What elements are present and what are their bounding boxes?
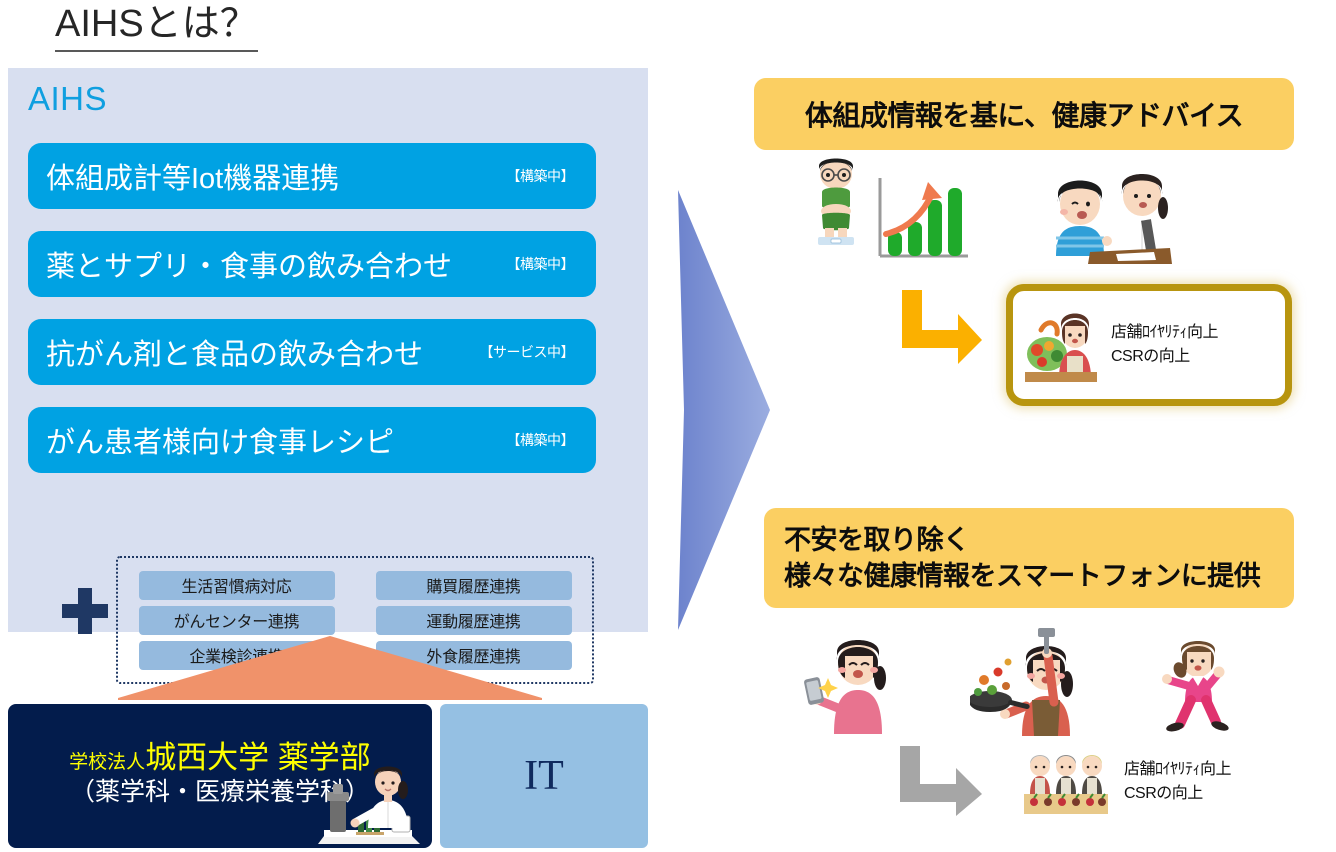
callout-line-1: 不安を取り除く xyxy=(784,522,1294,558)
callout-line-2: 様々な健康情報をスマートフォンに提供 xyxy=(784,558,1294,594)
tag-cell: 購買履歴連携 xyxy=(355,568,592,603)
body-scale-illustration xyxy=(796,158,876,248)
outcome-line-2: CSRの向上 xyxy=(1111,345,1218,369)
feature-bar-anticancer-food[interactable]: 抗がん剤と食品の飲み合わせ 【サービス中】 xyxy=(28,319,596,385)
it-label: IT xyxy=(524,752,564,800)
outcome-text: 店舗ﾛｲﾔﾘﾃｨ向上 CSRの向上 xyxy=(1111,321,1218,369)
page-title: AIHSとは？ xyxy=(55,4,258,52)
gray-elbow-arrow-icon xyxy=(898,744,984,816)
plus-icon xyxy=(62,588,108,634)
tag-cell: がんセンター連携 xyxy=(118,603,355,638)
feature-bar-label: 体組成計等Iot機器連携 xyxy=(46,155,339,197)
tag-exercise-history[interactable]: 運動履歴連携 xyxy=(376,606,572,635)
feature-bar-body-composition[interactable]: 体組成計等Iot機器連携 【構築中】 xyxy=(28,143,596,209)
cooking-woman-illustration xyxy=(1025,308,1097,382)
aihs-panel: AIHS 体組成計等Iot機器連携 【構築中】 薬とサプリ・食事の飲み合わせ 【… xyxy=(8,68,648,632)
outcome-line-2: CSRの向上 xyxy=(1124,782,1231,806)
outcome-text: 店舗ﾛｲﾔﾘﾃｨ向上 CSRの向上 xyxy=(1124,758,1231,806)
pharmacist-consultation-illustration xyxy=(1042,160,1172,266)
feature-bar-cancer-recipe[interactable]: がん患者様向け食事レシピ 【構築中】 xyxy=(28,407,596,473)
callout-line: 体組成情報を基に、健康アドバイス xyxy=(805,94,1243,134)
cooking-pan-woman-illustration xyxy=(970,628,1078,738)
growth-bar-chart-illustration xyxy=(866,168,972,266)
pharmacist-illustration xyxy=(316,750,426,846)
it-box: IT xyxy=(440,704,648,848)
tag-cell: 生活習慣病対応 xyxy=(118,568,355,603)
feature-bar-label: 抗がん剤と食品の飲み合わせ xyxy=(46,331,423,373)
outcome-line-1: 店舗ﾛｲﾔﾘﾃｨ向上 xyxy=(1124,758,1231,782)
feature-bar-status: 【構築中】 xyxy=(507,430,575,450)
jogging-woman-illustration xyxy=(1158,640,1236,738)
amber-elbow-arrow-icon xyxy=(900,288,984,364)
tag-purchase-history[interactable]: 購買履歴連携 xyxy=(376,571,572,600)
university-prefix: 学校法人 xyxy=(69,752,145,773)
feature-bar-medicine-supplement[interactable]: 薬とサプリ・食事の飲み合わせ 【構築中】 xyxy=(28,231,596,297)
tag-cancer-center[interactable]: がんセンター連携 xyxy=(139,606,335,635)
callout-health-advice: 体組成情報を基に、健康アドバイス xyxy=(754,78,1294,150)
feature-bar-label: 薬とサプリ・食事の飲み合わせ xyxy=(46,243,452,285)
orange-up-arrow-icon xyxy=(118,636,542,700)
aihs-panel-label: AIHS xyxy=(28,80,107,118)
feature-bar-status: 【構築中】 xyxy=(507,166,575,186)
tag-lifestyle-disease[interactable]: 生活習慣病対応 xyxy=(139,571,335,600)
elderly-group-illustration xyxy=(1024,750,1108,814)
tag-cell: 運動履歴連携 xyxy=(355,603,592,638)
outcome-box-store-loyalty: 店舗ﾛｲﾔﾘﾃｨ向上 CSRの向上 xyxy=(1006,284,1292,406)
feature-bar-label: がん患者様向け食事レシピ xyxy=(46,419,394,461)
outcome-line-1: 店舗ﾛｲﾔﾘﾃｨ向上 xyxy=(1111,321,1218,345)
university-box: 学校法人城西大学 薬学部 （薬学科・医療栄養学科） xyxy=(8,704,432,848)
outcome-elderly-store-loyalty: 店舗ﾛｲﾔﾘﾃｨ向上 CSRの向上 xyxy=(1024,746,1292,818)
feature-bar-status: 【サービス中】 xyxy=(480,342,575,362)
feature-bar-status: 【構築中】 xyxy=(507,254,575,274)
smartphone-woman-illustration xyxy=(800,634,890,736)
blue-right-chevron-icon xyxy=(660,190,780,630)
callout-health-info: 不安を取り除く 様々な健康情報をスマートフォンに提供 xyxy=(764,508,1294,608)
